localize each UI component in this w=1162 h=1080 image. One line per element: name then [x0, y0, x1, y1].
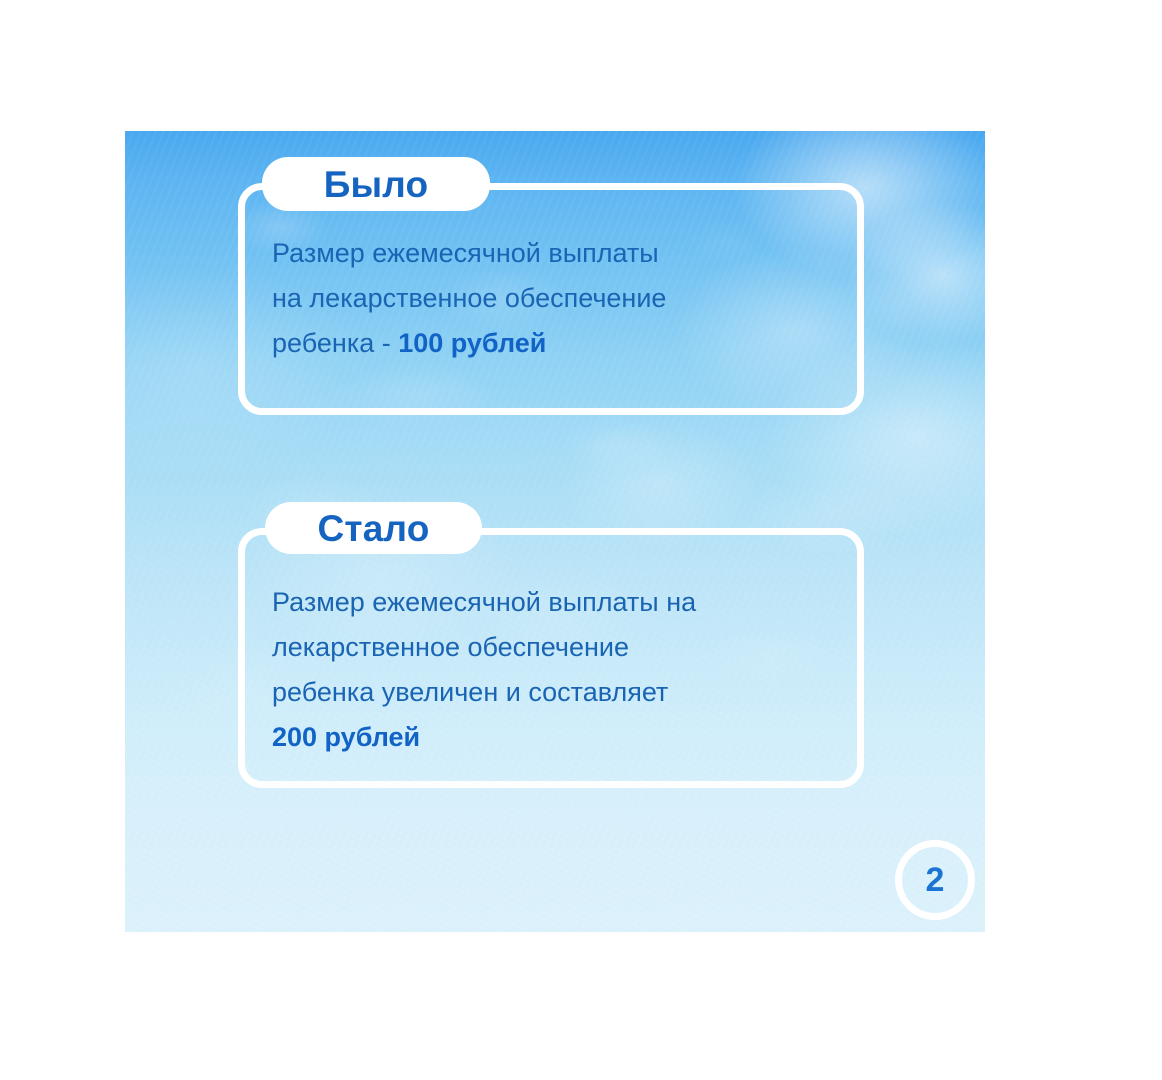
card-before-amount: 100 рублей	[398, 328, 546, 358]
card-tab-after: Стало	[265, 502, 482, 554]
card-tab-before: Было	[262, 157, 490, 211]
page-number-badge-label: 2	[926, 863, 945, 897]
poster-panel: Было Размер ежемесячной выплаты на лекар…	[125, 131, 985, 932]
card-after-text: Размер ежемесячной выплаты на лекарствен…	[272, 580, 832, 760]
card-before-text: Размер ежемесячной выплаты на лекарствен…	[272, 231, 832, 366]
card-after-amount: 200 рублей	[272, 722, 420, 752]
page-number-badge: 2	[895, 840, 975, 920]
card-tab-after-label: Стало	[317, 510, 429, 547]
card-tab-before-label: Было	[324, 166, 429, 203]
card-after-text-prefix: Размер ежемесячной выплаты на лекарствен…	[272, 587, 696, 707]
